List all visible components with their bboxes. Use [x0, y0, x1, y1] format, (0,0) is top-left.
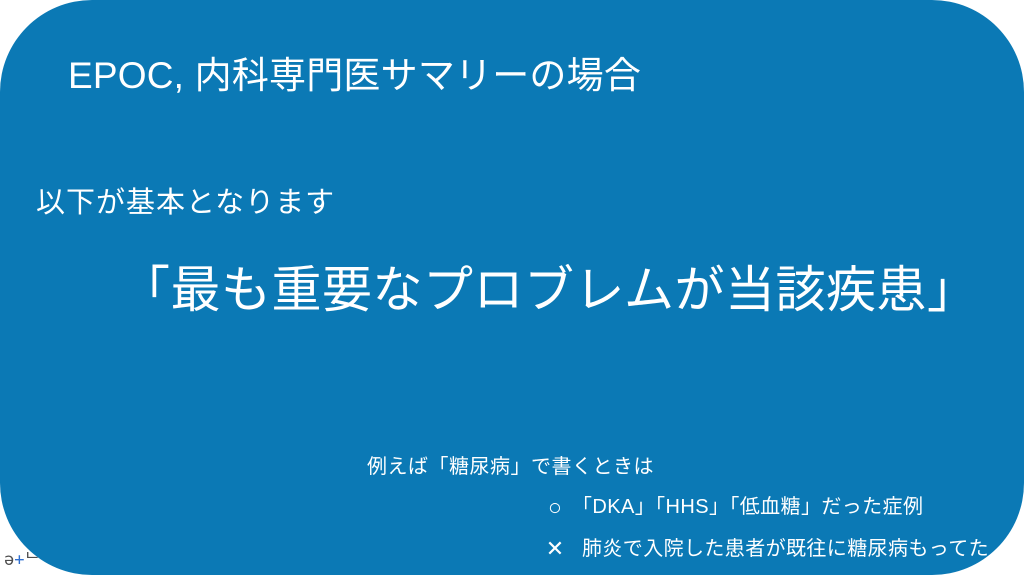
- cross-ng-icon: ✕: [541, 534, 569, 564]
- watermark-plus: +: [14, 550, 24, 570]
- watermark-logo: ə+ᄂ: [4, 552, 40, 569]
- bullet-row-bad: ✕ 肺炎で入院した患者が既往に糖尿病もってた: [541, 534, 989, 564]
- watermark-suffix: ᄂ: [25, 550, 41, 570]
- slide-title: EPOC, 内科専門医サマリーの場合: [68, 53, 641, 99]
- watermark-prefix: ə: [4, 550, 14, 570]
- circle-ok-icon: ○: [541, 492, 569, 522]
- example-label: 例えば「糖尿病」で書くときは: [367, 453, 654, 481]
- bullet-text-bad: 肺炎で入院した患者が既往に糖尿病もってた: [582, 534, 989, 564]
- bullet-text-good: 「DKA」「HHS」「低血糖」だった症例: [572, 492, 923, 522]
- headline-quote: 「最も重要なプロブレムが当該疾患」: [120, 258, 978, 322]
- bullet-row-good: ○ 「DKA」「HHS」「低血糖」だった症例: [541, 492, 923, 522]
- slide-canvas: ə+ᄂ EPOC, 内科専門医サマリーの場合 以下が基本となります 「最も重要な…: [0, 0, 1024, 575]
- lead-line-text: 以下が基本となります: [36, 184, 335, 222]
